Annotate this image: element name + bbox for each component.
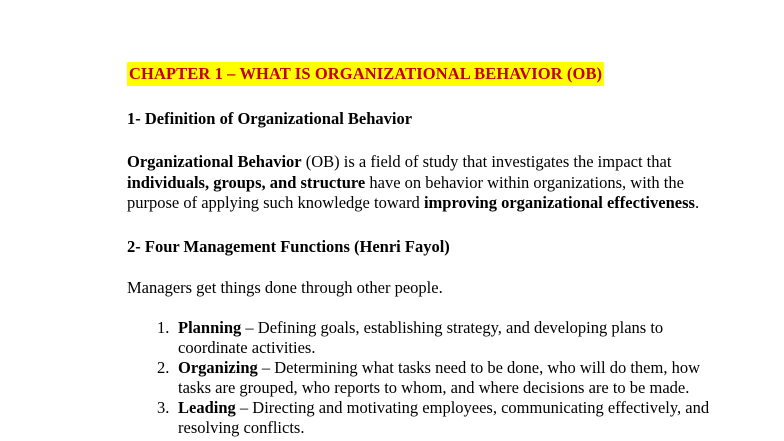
spacer: [127, 86, 727, 109]
definition-bold-term-3: improving organizational effectiveness: [424, 193, 695, 212]
list-item-number: 1.: [157, 318, 175, 338]
definition-bold-term-1: Organizational Behavior: [127, 152, 302, 171]
heading-definition: 1- Definition of Organizational Behavior: [127, 109, 727, 130]
chapter-title-line: CHAPTER 1 – WHAT IS ORGANIZATIONAL BEHAV…: [127, 62, 727, 86]
list-item-term: Planning: [178, 318, 241, 337]
list-item: 2. Organizing – Determining what tasks n…: [127, 358, 727, 397]
list-item-body: Organizing – Determining what tasks need…: [178, 358, 727, 397]
list-item: 1. Planning – Defining goals, establishi…: [127, 318, 727, 357]
list-item-dash: –: [258, 358, 275, 377]
document-content: CHAPTER 1 – WHAT IS ORGANIZATIONAL BEHAV…: [127, 62, 727, 441]
list-item-body: Planning – Defining goals, establishing …: [178, 318, 727, 357]
heading-management-functions: 2- Four Management Functions (Henri Fayo…: [127, 237, 727, 258]
functions-intro-paragraph: Managers get things done through other p…: [127, 278, 727, 299]
document-page: CHAPTER 1 – WHAT IS ORGANIZATIONAL BEHAV…: [0, 0, 784, 441]
list-item-number: 2.: [157, 358, 175, 378]
list-item-number: 3.: [157, 398, 175, 418]
definition-text-3: .: [695, 193, 699, 212]
chapter-title: CHAPTER 1 – WHAT IS ORGANIZATIONAL BEHAV…: [127, 62, 604, 86]
list-item-description: Directing and motivating employees, comm…: [178, 398, 709, 437]
definition-text-1: (OB) is a field of study that investigat…: [302, 152, 672, 171]
management-functions-list: 1. Planning – Defining goals, establishi…: [127, 318, 727, 441]
list-item-dash: –: [236, 398, 253, 417]
list-item-dash: –: [241, 318, 258, 337]
spacer: [127, 130, 727, 152]
paragraph-definition: Organizational Behavior (OB) is a field …: [127, 152, 727, 214]
list-item: 3. Leading – Directing and motivating em…: [127, 398, 727, 437]
list-item-term: Organizing: [178, 358, 258, 377]
definition-bold-term-2: individuals, groups, and structure: [127, 173, 365, 192]
list-item-term: Leading: [178, 398, 236, 417]
spacer: [127, 299, 727, 318]
spacer: [127, 257, 727, 278]
spacer: [127, 214, 727, 237]
list-item-body: Leading – Directing and motivating emplo…: [178, 398, 727, 437]
